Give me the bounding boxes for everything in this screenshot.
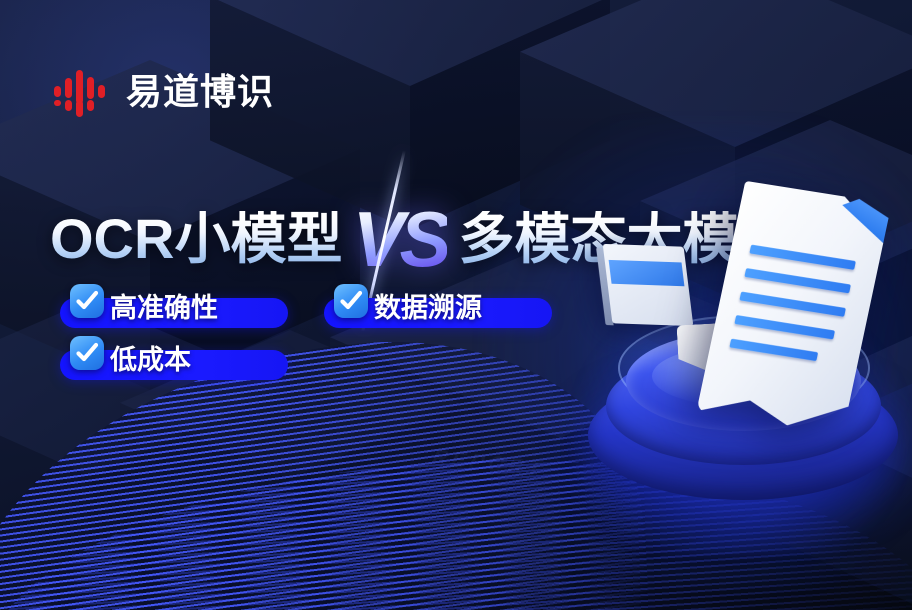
feature-row: 低成本 (60, 350, 580, 380)
title-left: OCR小模型 (50, 211, 342, 267)
brand-name: 易道博识 (126, 74, 274, 110)
card-behind-icon (603, 244, 694, 326)
vs-label: VS (352, 195, 446, 283)
hero-illustration (560, 195, 912, 555)
feature-row: 高准确性 数据溯源 (60, 298, 580, 328)
feature-badge-traceability[interactable]: 数据溯源 (324, 298, 552, 328)
feature-label: 高准确性 (110, 295, 218, 322)
feature-label: 数据溯源 (374, 295, 482, 322)
feature-badge-accuracy[interactable]: 高准确性 (60, 298, 288, 328)
feature-badge-low-cost[interactable]: 低成本 (60, 350, 288, 380)
feature-label: 低成本 (110, 347, 191, 374)
waveform-bars-icon (54, 66, 112, 118)
vs-badge: VS (346, 200, 452, 278)
brand-logo: 易道博识 (54, 66, 274, 118)
feature-list: 高准确性 数据溯源 低成本 (60, 298, 580, 402)
promo-banner: REPORT 易道博识 OCR小模型 VS 多模态大模型 (0, 0, 912, 610)
check-icon (334, 284, 368, 318)
check-icon (70, 336, 104, 370)
check-icon (70, 284, 104, 318)
